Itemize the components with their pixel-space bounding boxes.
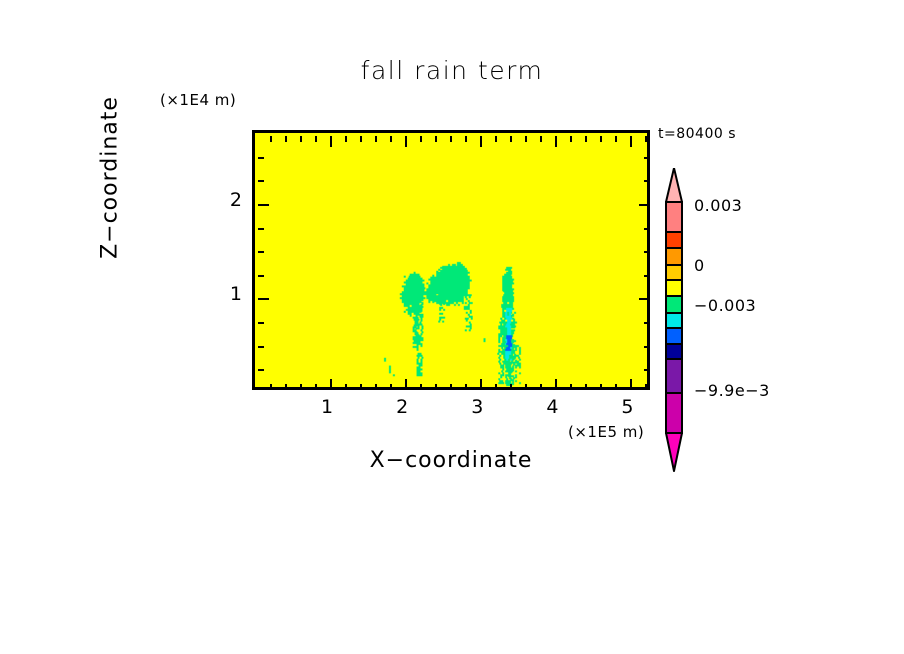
colorbar-swatches [663,168,685,408]
x-tick-top [285,136,287,142]
x-tick-bottom [555,379,557,390]
x-tick-bottom [465,384,467,390]
x-tick-top [480,136,482,147]
y-tick-left [258,180,264,182]
x-tick-bottom [405,379,407,390]
x-tick-label: 1 [312,396,342,418]
y-axis-title: Z−coordinate [98,63,123,293]
plot-area[interactable] [252,130,650,390]
x-tick-bottom [570,384,572,390]
y-tick-right [644,275,650,277]
x-tick-top [435,136,437,142]
y-tick-label: 2 [212,189,242,211]
x-tick-bottom [615,384,617,390]
colorbar[interactable] [663,168,685,408]
x-tick-bottom [300,384,302,390]
x-tick-top [495,136,497,142]
y-tick-left [258,204,269,206]
y-tick-left [258,228,264,230]
x-tick-top [420,136,422,142]
y-tick-left [258,369,264,371]
heatmap-canvas [255,133,647,387]
x-tick-top [345,136,347,142]
x-tick-bottom [330,379,332,390]
time-annotation: t=80400 s [658,126,736,142]
x-tick-bottom [600,384,602,390]
x-tick-bottom [540,384,542,390]
x-tick-top [510,136,512,142]
y-tick-right [644,251,650,253]
y-axis-unit-label: (×1E4 m) [160,91,236,109]
x-tick-top [405,136,407,147]
colorbar-label-upper: 0.003 [694,196,742,215]
x-tick-bottom [435,384,437,390]
x-axis-title: X−coordinate [252,448,650,473]
colorbar-label-min: −9.9e−3 [694,381,770,400]
x-tick-bottom [495,384,497,390]
y-tick-right [644,346,650,348]
x-tick-top [390,136,392,142]
x-tick-bottom [360,384,362,390]
x-tick-bottom [510,384,512,390]
colorbar-swatches-lower [663,393,685,473]
x-tick-bottom [270,384,272,390]
x-tick-bottom [375,384,377,390]
x-tick-label: 2 [387,396,417,418]
x-tick-bottom [420,384,422,390]
x-tick-bottom [390,384,392,390]
x-tick-bottom [480,379,482,390]
y-tick-right [644,369,650,371]
y-tick-right [644,228,650,230]
x-tick-top [645,136,647,142]
x-tick-bottom [630,379,632,390]
y-tick-right [644,157,650,159]
y-tick-left [258,346,264,348]
x-tick-bottom [525,384,527,390]
y-tick-left [258,251,264,253]
x-tick-top [585,136,587,142]
x-tick-label: 4 [537,396,567,418]
x-tick-top [525,136,527,142]
x-tick-top [570,136,572,142]
x-tick-top [555,136,557,147]
x-axis-unit-label: (×1E5 m) [568,423,644,441]
x-tick-label: 3 [462,396,492,418]
y-tick-right [639,204,650,206]
x-tick-top [615,136,617,142]
x-tick-top [270,136,272,142]
x-tick-top [375,136,377,142]
x-tick-top [315,136,317,142]
y-tick-left [258,298,269,300]
x-tick-bottom [450,384,452,390]
x-tick-bottom [285,384,287,390]
y-tick-right [644,322,650,324]
colorbar-label-zero: 0 [694,256,705,275]
y-tick-right [644,180,650,182]
x-tick-top [540,136,542,142]
x-tick-bottom [345,384,347,390]
y-tick-left [258,275,264,277]
x-tick-top [330,136,332,147]
x-tick-top [360,136,362,142]
x-tick-top [465,136,467,142]
y-tick-right [639,298,650,300]
y-tick-left [258,322,264,324]
x-tick-bottom [585,384,587,390]
x-tick-top [630,136,632,147]
page-title: fall rain term [0,56,904,85]
x-tick-label: 5 [612,396,642,418]
colorbar-label-lower: −0.003 [694,296,756,315]
x-tick-top [300,136,302,142]
x-tick-bottom [315,384,317,390]
x-tick-top [600,136,602,142]
y-tick-left [258,157,264,159]
y-tick-label: 1 [212,283,242,305]
x-tick-top [450,136,452,142]
x-tick-bottom [645,384,647,390]
